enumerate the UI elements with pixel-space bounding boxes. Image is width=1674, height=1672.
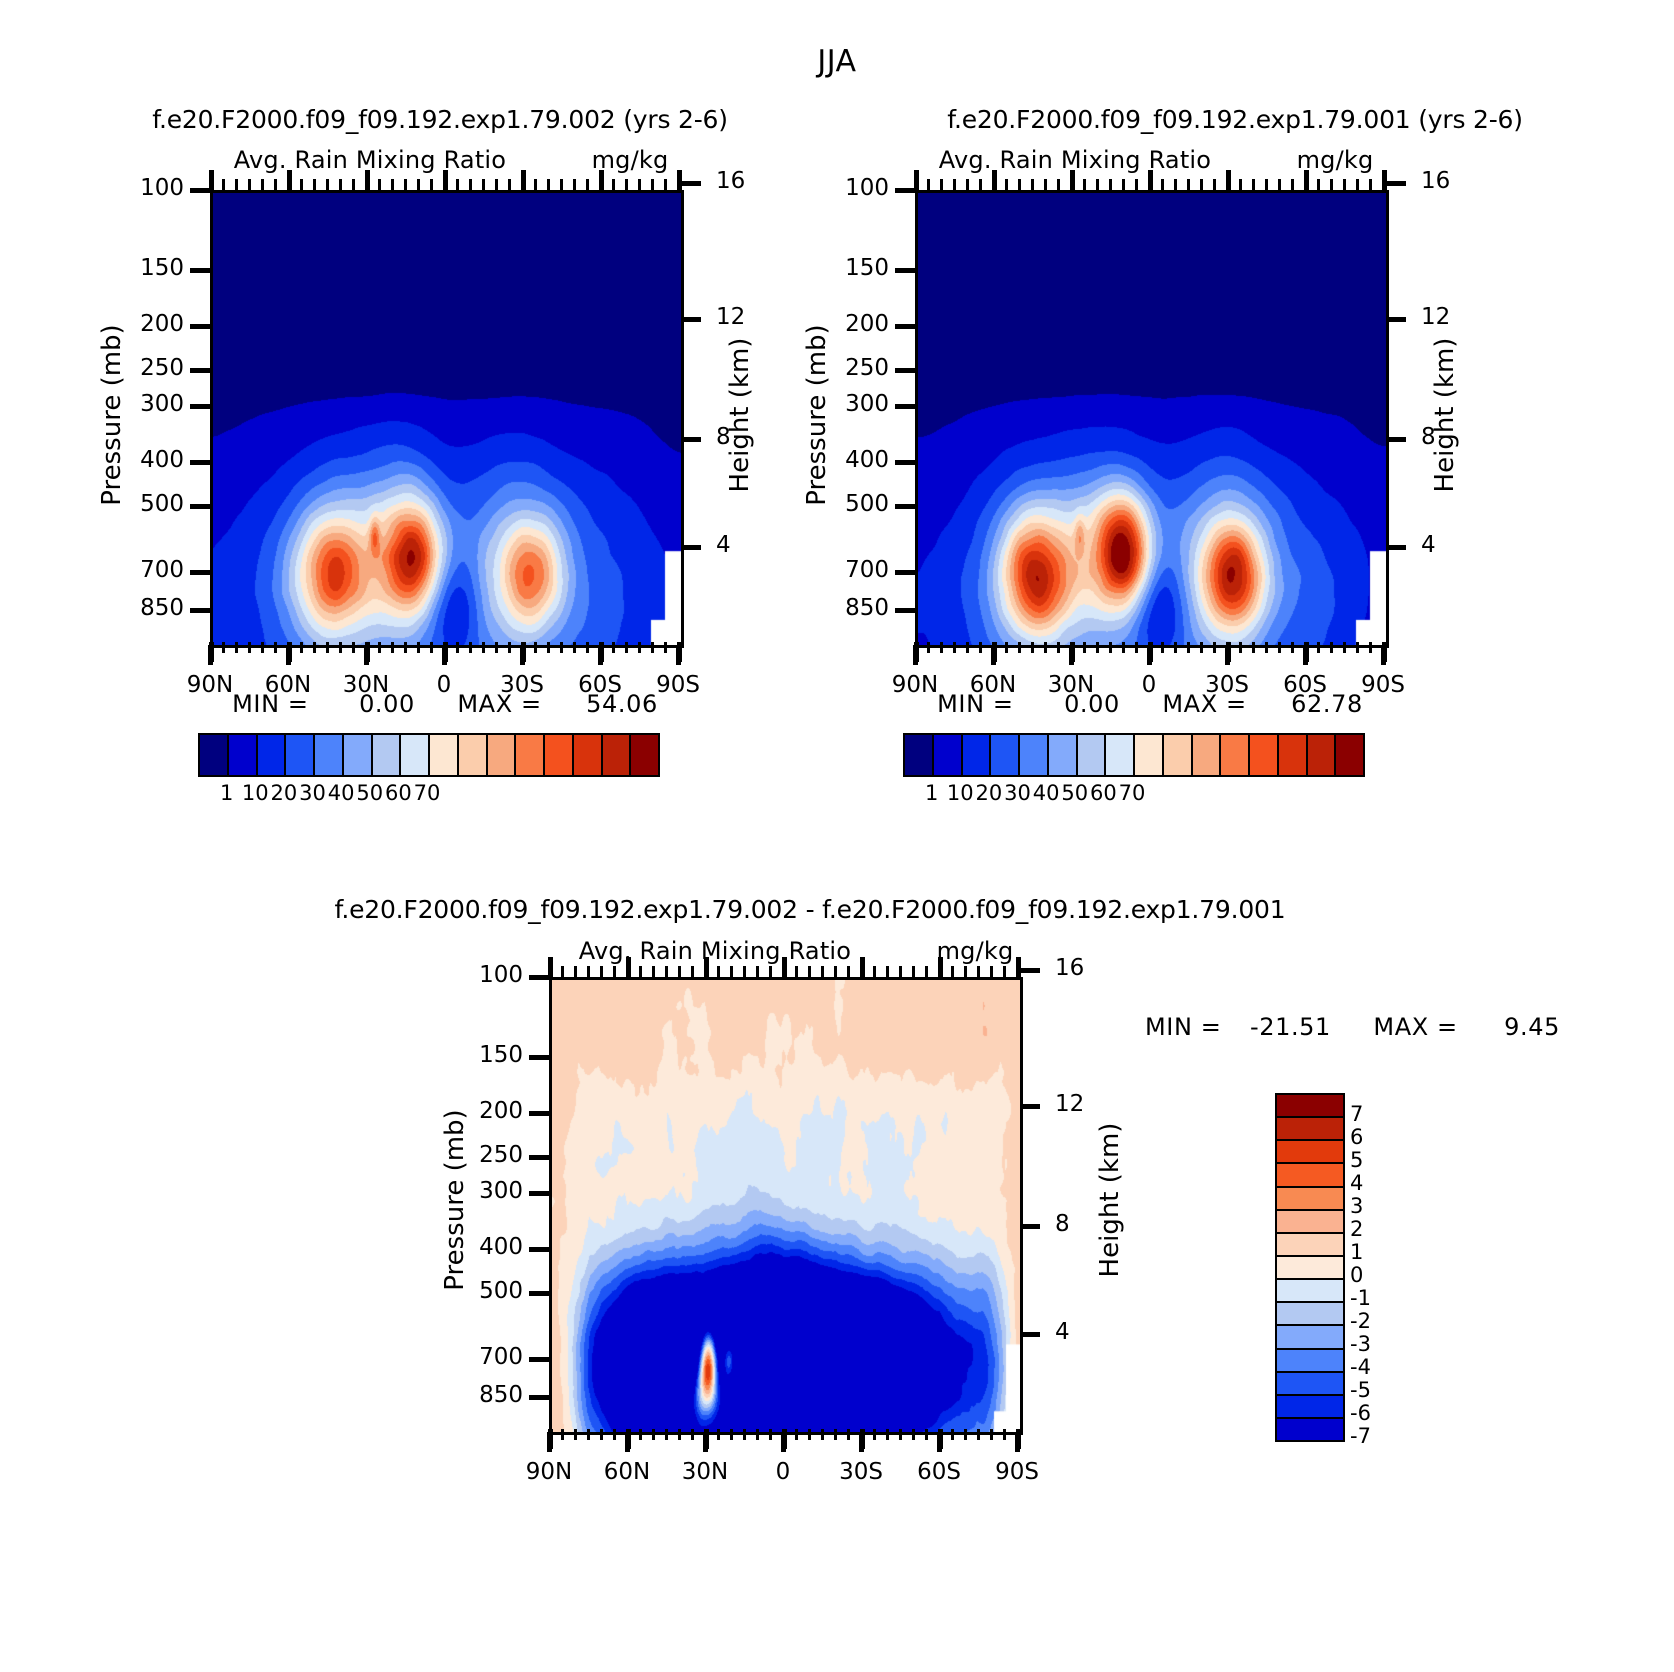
minor-tick <box>977 1429 980 1440</box>
tick-mark <box>1386 545 1406 550</box>
right-colorbar[interactable] <box>903 733 1365 777</box>
colorbar-swatch <box>315 735 344 775</box>
minor-tick <box>222 179 225 190</box>
minor-tick <box>1382 170 1387 190</box>
tick-label: 700 <box>431 1344 523 1370</box>
minor-tick <box>1161 179 1164 190</box>
colorbar-tick-label: 1 <box>1350 1240 1363 1264</box>
minor-tick <box>287 642 292 662</box>
minor-tick <box>886 1429 889 1440</box>
right-min-label: MIN = <box>937 690 1013 718</box>
diff-contour-plot <box>549 977 1023 1435</box>
minor-tick <box>209 642 214 662</box>
minor-tick <box>339 642 342 653</box>
tick-label: 30S <box>816 1459 906 1485</box>
minor-tick <box>664 642 667 653</box>
minor-tick <box>1135 179 1138 190</box>
minor-tick <box>860 957 865 977</box>
minor-tick <box>261 642 264 653</box>
tick-mark <box>529 1247 549 1252</box>
colorbar-swatch <box>229 735 258 775</box>
minor-tick <box>599 642 604 662</box>
right-max-label: MAX = <box>1162 690 1246 718</box>
minor-tick <box>808 966 811 977</box>
colorbar-swatch <box>1277 1350 1343 1373</box>
right-contour-plot <box>915 190 1389 648</box>
colorbar-swatch <box>1277 1373 1343 1396</box>
diff-colorbar[interactable] <box>1275 1093 1345 1442</box>
left-max-value: 54.06 <box>586 690 658 718</box>
minor-tick <box>808 1429 811 1440</box>
minor-tick <box>326 642 329 653</box>
minor-tick <box>1356 179 1359 190</box>
colorbar-swatch <box>401 735 430 775</box>
minor-tick <box>847 966 850 977</box>
colorbar-swatch <box>1277 1211 1343 1234</box>
colorbar-swatch <box>1106 735 1135 775</box>
minor-tick <box>378 179 381 190</box>
minor-tick <box>1016 957 1021 977</box>
colorbar-swatch <box>545 735 574 775</box>
right-variable-name: Avg. Rain Mixing Ratio <box>905 146 1245 174</box>
minor-tick <box>495 179 498 190</box>
tick-mark <box>895 188 915 193</box>
minor-tick <box>1044 179 1047 190</box>
minor-tick <box>886 966 889 977</box>
tick-mark <box>1386 181 1406 186</box>
minor-tick <box>300 642 303 653</box>
minor-tick <box>639 1429 642 1440</box>
minor-tick <box>1096 179 1099 190</box>
tick-mark <box>190 504 210 509</box>
minor-tick <box>613 1429 616 1440</box>
tick-label: 850 <box>92 595 184 621</box>
minor-tick <box>495 642 498 653</box>
tick-mark <box>529 975 549 980</box>
colorbar-swatch <box>373 735 402 775</box>
colorbar-tick-label: -2 <box>1350 1309 1371 1333</box>
minor-tick <box>1252 642 1255 653</box>
tick-label: 700 <box>797 557 889 583</box>
minor-tick <box>560 642 563 653</box>
minor-tick <box>365 170 370 190</box>
colorbar-tick-label: 7 <box>1350 1102 1363 1126</box>
minor-tick <box>547 179 550 190</box>
minor-tick <box>1278 642 1281 653</box>
diff-variable-name: Avg. Rain Mixing Ratio <box>545 937 885 965</box>
minor-tick <box>626 957 631 977</box>
minor-tick <box>1291 642 1294 653</box>
minor-tick <box>992 170 997 190</box>
minor-tick <box>456 179 459 190</box>
tick-mark <box>190 460 210 465</box>
tick-label: 90S <box>972 1459 1062 1485</box>
colorbar-swatch <box>1277 1303 1343 1326</box>
minor-tick <box>1135 642 1138 653</box>
minor-tick <box>313 179 316 190</box>
minor-tick <box>560 179 563 190</box>
minor-tick <box>1031 179 1034 190</box>
minor-tick <box>966 642 969 653</box>
minor-tick <box>613 966 616 977</box>
colorbar-swatch <box>258 735 287 775</box>
minor-tick <box>573 179 576 190</box>
colorbar-swatch <box>1277 1118 1343 1141</box>
tick-mark <box>1386 437 1406 442</box>
minor-tick <box>625 179 628 190</box>
minor-tick <box>756 1429 759 1440</box>
minor-tick <box>561 966 564 977</box>
minor-tick <box>1356 642 1359 653</box>
minor-tick <box>625 642 628 653</box>
minor-tick <box>248 179 251 190</box>
minor-tick <box>651 642 654 653</box>
minor-tick <box>730 966 733 977</box>
minor-tick <box>743 966 746 977</box>
colorbar-swatch <box>1308 735 1337 775</box>
minor-tick <box>417 179 420 190</box>
tick-mark <box>681 181 701 186</box>
colorbar-swatch <box>1277 1164 1343 1187</box>
colorbar-tick-label: 2 <box>1350 1217 1363 1241</box>
minor-tick <box>1200 642 1203 653</box>
minor-tick <box>677 642 682 662</box>
colorbar-tick-label: 0 <box>1350 1263 1363 1287</box>
minor-tick <box>534 642 537 653</box>
minor-tick <box>548 1429 553 1449</box>
minor-tick <box>1200 179 1203 190</box>
minor-tick <box>940 179 943 190</box>
colorbar-swatch <box>286 735 315 775</box>
minor-tick <box>927 642 930 653</box>
minor-tick <box>1005 642 1008 653</box>
minor-tick <box>1070 642 1075 662</box>
minor-tick <box>1174 642 1177 653</box>
minor-tick <box>834 966 837 977</box>
colorbar-swatch <box>1277 1280 1343 1303</box>
tick-label: 150 <box>797 255 889 281</box>
minor-tick <box>274 179 277 190</box>
minor-tick <box>912 1429 915 1440</box>
minor-tick <box>821 1429 824 1440</box>
tick-mark <box>895 368 915 373</box>
colorbar-swatch <box>1277 1234 1343 1257</box>
tick-label: 850 <box>431 1382 523 1408</box>
colorbar-swatch <box>603 735 632 775</box>
season-title: JJA <box>0 44 1674 79</box>
right-min-value: 0.00 <box>1064 690 1120 718</box>
minor-tick <box>586 642 589 653</box>
minor-tick <box>235 642 238 653</box>
minor-tick <box>1304 170 1309 190</box>
minor-tick <box>652 966 655 977</box>
colorbar-swatch <box>459 735 488 775</box>
diff-min-label: MIN = <box>1145 1013 1221 1041</box>
tick-mark <box>529 1055 549 1060</box>
minor-tick <box>795 1429 798 1440</box>
minor-tick <box>430 642 433 653</box>
tick-label: 60N <box>582 1459 672 1485</box>
minor-tick <box>964 966 967 977</box>
right-max-value: 62.78 <box>1291 690 1363 718</box>
left-max-label: MAX = <box>457 690 541 718</box>
minor-tick <box>821 966 824 977</box>
minor-tick <box>964 1429 967 1440</box>
minor-tick <box>1148 642 1153 662</box>
minor-tick <box>443 170 448 190</box>
minor-tick <box>599 170 604 190</box>
minor-tick <box>1239 642 1242 653</box>
right-minmax: MIN = 0.00 MAX = 62.78 <box>885 690 1415 718</box>
tick-mark <box>190 368 210 373</box>
tick-label: 4 <box>1421 532 1481 558</box>
colorbar-swatch <box>516 735 545 775</box>
minor-tick <box>365 642 370 662</box>
minor-tick <box>899 966 902 977</box>
minor-tick <box>573 642 576 653</box>
minor-tick <box>1096 642 1099 653</box>
minor-tick <box>508 179 511 190</box>
minor-tick <box>561 1429 564 1440</box>
minor-tick <box>1018 642 1021 653</box>
minor-tick <box>1003 1429 1006 1440</box>
minor-tick <box>1003 966 1006 977</box>
minor-tick <box>600 1429 603 1440</box>
minor-tick <box>834 1429 837 1440</box>
tick-label: 700 <box>92 557 184 583</box>
minor-tick <box>1226 642 1231 662</box>
minor-tick <box>261 179 264 190</box>
minor-tick <box>430 179 433 190</box>
tick-mark <box>895 460 915 465</box>
colorbar-tick-label: -4 <box>1350 1355 1371 1379</box>
colorbar-swatch <box>1336 735 1363 775</box>
minor-tick <box>873 966 876 977</box>
minor-tick <box>1317 642 1320 653</box>
colorbar-swatch <box>1078 735 1107 775</box>
left-variable-name: Avg. Rain Mixing Ratio <box>200 146 540 174</box>
minor-tick <box>274 642 277 653</box>
diff-minmax: MIN = -21.51 MAX = 9.45 <box>1145 1013 1560 1041</box>
minor-tick <box>1382 642 1387 662</box>
left-min-label: MIN = <box>232 690 308 718</box>
colorbar-tick-label: -6 <box>1350 1401 1371 1425</box>
tick-mark <box>190 570 210 575</box>
minor-tick <box>1174 179 1177 190</box>
left-contour-plot <box>210 190 684 648</box>
minor-tick <box>300 179 303 190</box>
tick-label: 100 <box>92 175 184 201</box>
colorbar-tick-label: -3 <box>1350 1332 1371 1356</box>
left-minmax: MIN = 0.00 MAX = 54.06 <box>180 690 710 718</box>
colorbar-tick-label: 3 <box>1350 1194 1363 1218</box>
minor-tick <box>404 179 407 190</box>
minor-tick <box>1083 179 1086 190</box>
diff-height-axis-label: Height (km) <box>1095 1090 1125 1310</box>
minor-tick <box>847 1429 850 1440</box>
minor-tick <box>992 642 997 662</box>
minor-tick <box>651 179 654 190</box>
tick-label: 100 <box>797 175 889 201</box>
tick-mark <box>681 317 701 322</box>
right-pressure-axis-label: Pressure (mb) <box>802 295 832 535</box>
right-height-axis-label: Height (km) <box>1430 305 1460 525</box>
minor-tick <box>287 170 292 190</box>
minor-tick <box>717 1429 720 1440</box>
minor-tick <box>548 957 553 977</box>
minor-tick <box>782 957 787 977</box>
minor-tick <box>639 966 642 977</box>
minor-tick <box>1161 642 1164 653</box>
minor-tick <box>678 1429 681 1440</box>
minor-tick <box>1005 179 1008 190</box>
colorbar-swatch <box>1135 735 1164 775</box>
tick-mark <box>1020 1104 1040 1109</box>
minor-tick <box>1031 642 1034 653</box>
minor-tick <box>678 966 681 977</box>
minor-tick <box>404 642 407 653</box>
minor-tick <box>795 966 798 977</box>
minor-tick <box>1213 179 1216 190</box>
colorbar-tick-label: 6 <box>1350 1125 1363 1149</box>
colorbar-swatch <box>1049 735 1078 775</box>
left-panel-title: f.e20.F2000.f09_f09.192.exp1.79.002 (yrs… <box>60 105 820 134</box>
minor-tick <box>743 1429 746 1440</box>
minor-tick <box>938 1429 943 1449</box>
colorbar-tick-label: -7 <box>1350 1424 1371 1448</box>
tick-label: 4 <box>716 532 776 558</box>
tick-mark <box>1020 1332 1040 1337</box>
minor-tick <box>248 642 251 653</box>
left-colorbar[interactable] <box>198 733 660 777</box>
minor-tick <box>938 957 943 977</box>
diff-panel-title: f.e20.F2000.f09_f09.192.exp1.79.002 - f.… <box>180 895 1440 924</box>
colorbar-swatch <box>1279 735 1308 775</box>
minor-tick <box>717 966 720 977</box>
minor-tick <box>626 1429 631 1449</box>
tick-label: 30N <box>660 1459 750 1485</box>
minor-tick <box>1278 179 1281 190</box>
minor-tick <box>1044 642 1047 653</box>
minor-tick <box>899 1429 902 1440</box>
minor-tick <box>914 642 919 662</box>
left-pressure-axis-label: Pressure (mb) <box>97 295 127 535</box>
minor-tick <box>209 170 214 190</box>
minor-tick <box>704 957 709 977</box>
minor-tick <box>612 179 615 190</box>
minor-tick <box>222 642 225 653</box>
tick-label: 4 <box>1055 1319 1115 1345</box>
tick-mark <box>895 404 915 409</box>
colorbar-swatch <box>934 735 963 775</box>
minor-tick <box>769 1429 772 1440</box>
minor-tick <box>1330 179 1333 190</box>
tick-label: 16 <box>716 168 776 194</box>
colorbar-swatch <box>963 735 992 775</box>
minor-tick <box>586 179 589 190</box>
tick-mark <box>529 1357 549 1362</box>
minor-tick <box>638 179 641 190</box>
tick-label: 16 <box>1421 168 1481 194</box>
minor-tick <box>1330 642 1333 653</box>
minor-tick <box>769 966 772 977</box>
minor-tick <box>1018 179 1021 190</box>
tick-mark <box>895 268 915 273</box>
minor-tick <box>1291 179 1294 190</box>
minor-tick <box>235 179 238 190</box>
minor-tick <box>677 170 682 190</box>
minor-tick <box>979 642 982 653</box>
tick-mark <box>190 188 210 193</box>
tick-mark <box>1020 1224 1040 1229</box>
minor-tick <box>912 966 915 977</box>
minor-tick <box>1213 642 1216 653</box>
colorbar-swatch <box>344 735 373 775</box>
colorbar-swatch <box>1277 1095 1343 1118</box>
minor-tick <box>704 1429 709 1449</box>
minor-tick <box>1016 1429 1021 1449</box>
colorbar-swatch <box>200 735 229 775</box>
minor-tick <box>391 642 394 653</box>
minor-tick <box>417 642 420 653</box>
minor-tick <box>574 966 577 977</box>
colorbar-swatch <box>1193 735 1222 775</box>
colorbar-swatch <box>1277 1396 1343 1419</box>
minor-tick <box>1148 170 1153 190</box>
minor-tick <box>925 966 928 977</box>
tick-mark <box>190 324 210 329</box>
minor-tick <box>534 179 537 190</box>
colorbar-swatch <box>991 735 1020 775</box>
diff-pressure-axis-label: Pressure (mb) <box>440 1080 470 1320</box>
tick-mark <box>895 324 915 329</box>
minor-tick <box>782 1429 787 1449</box>
minor-tick <box>953 179 956 190</box>
colorbar-swatch <box>430 735 459 775</box>
colorbar-tick-label: 5 <box>1350 1148 1363 1172</box>
minor-tick <box>1265 642 1268 653</box>
minor-tick <box>443 642 448 662</box>
tick-mark <box>895 570 915 575</box>
tick-mark <box>190 268 210 273</box>
tick-mark <box>190 608 210 613</box>
tick-mark <box>529 1291 549 1296</box>
colorbar-swatch <box>1277 1141 1343 1164</box>
colorbar-tick-label: 70 <box>387 781 467 805</box>
minor-tick <box>730 1429 733 1440</box>
tick-mark <box>190 404 210 409</box>
minor-tick <box>1109 179 1112 190</box>
tick-label: 850 <box>797 595 889 621</box>
minor-tick <box>391 179 394 190</box>
minor-tick <box>378 642 381 653</box>
diff-min-value: -21.51 <box>1250 1013 1331 1041</box>
colorbar-tick-label: -5 <box>1350 1378 1371 1402</box>
minor-tick <box>1070 170 1075 190</box>
colorbar-swatch <box>1277 1419 1343 1440</box>
tick-mark <box>529 1155 549 1160</box>
minor-tick <box>951 1429 954 1440</box>
minor-tick <box>691 1429 694 1440</box>
minor-tick <box>482 179 485 190</box>
minor-tick <box>990 1429 993 1440</box>
tick-mark <box>529 1395 549 1400</box>
minor-tick <box>638 642 641 653</box>
tick-label: 60S <box>894 1459 984 1485</box>
minor-tick <box>521 642 526 662</box>
tick-mark <box>895 504 915 509</box>
tick-mark <box>895 608 915 613</box>
